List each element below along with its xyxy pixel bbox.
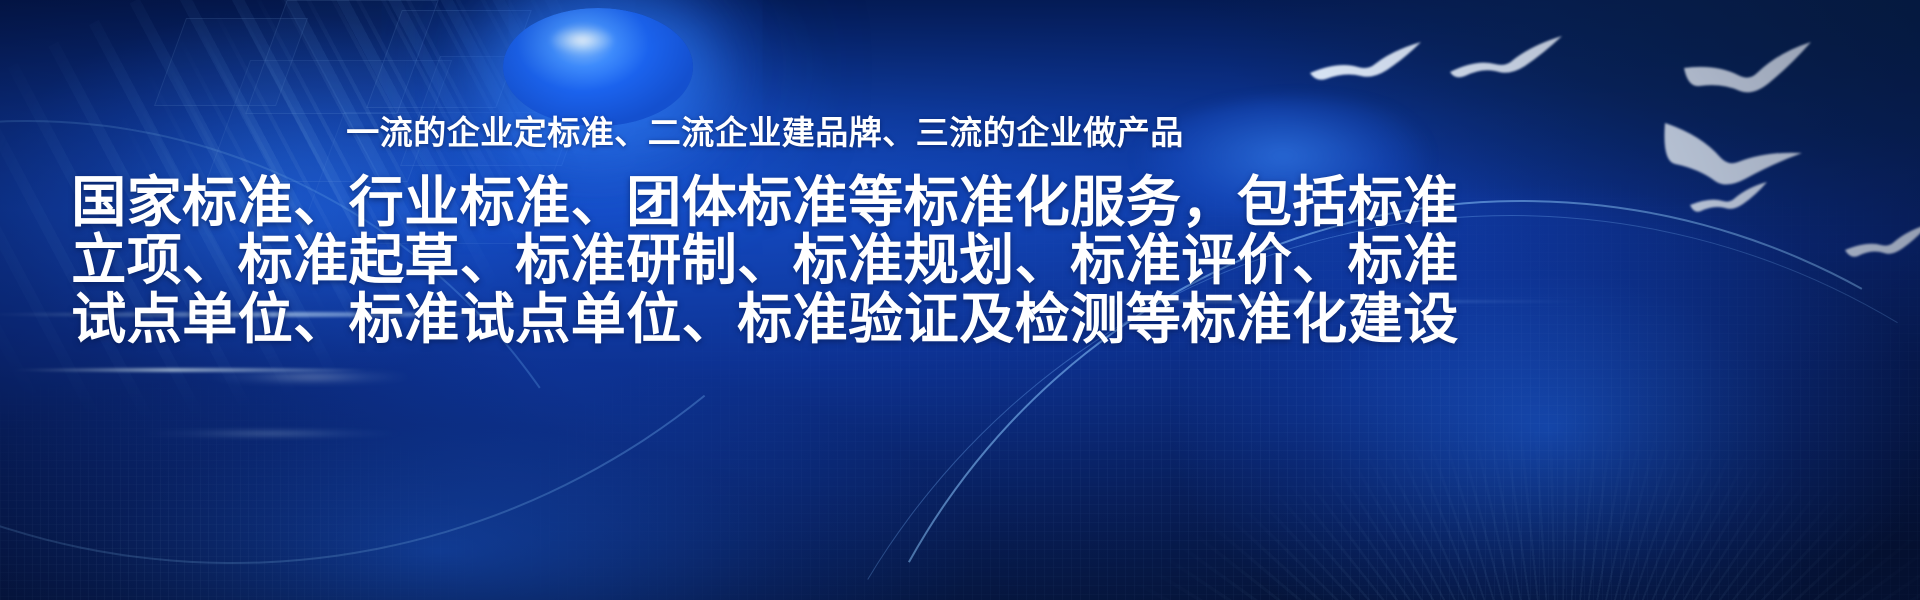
banner-headline: 国家标准、行业标准、团体标准等标准化服务，包括标准立项、标准起草、标准研制、标准…: [0, 149, 1530, 348]
standardization-service-banner: 一流的企业定标准、二流企业建品牌、三流的企业做产品 国家标准、行业标准、团体标准…: [0, 0, 1920, 600]
banner-copy: 一流的企业定标准、二流企业建品牌、三流的企业做产品 国家标准、行业标准、团体标准…: [0, 0, 1530, 348]
banner-tagline: 一流的企业定标准、二流企业建品牌、三流的企业做产品: [0, 0, 1530, 149]
